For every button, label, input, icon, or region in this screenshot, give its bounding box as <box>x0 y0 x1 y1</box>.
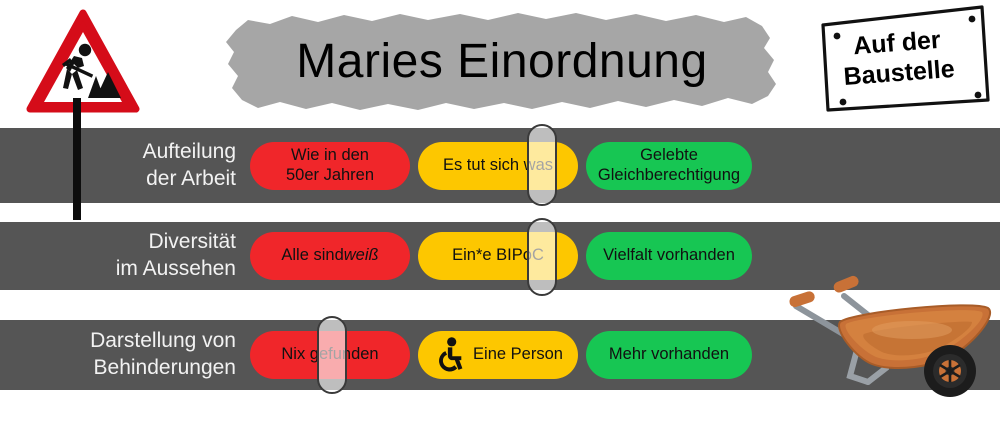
slide-canvas: Maries Einordnung Auf der Baustelle Auft… <box>0 0 1000 431</box>
option-green-row2[interactable]: Vielfalt vorhanden <box>586 232 752 280</box>
option-red-row2-emphasis: weiß <box>344 246 379 266</box>
sign-pole <box>73 98 81 220</box>
option-yellow-row3[interactable]: Eine Person <box>418 331 578 379</box>
option-red-row1[interactable]: Wie in den 50er Jahren <box>250 142 410 190</box>
wheelchair-accessibility-icon <box>433 336 467 374</box>
option-red-row1-line1: Wie in den <box>286 146 374 166</box>
title-banner: Maries Einordnung <box>222 8 782 116</box>
rating-marker-row2[interactable] <box>527 218 557 296</box>
row-label-diversitaet: Diversität im Aussehen <box>0 229 250 283</box>
option-red-row1-line2: 50er Jahren <box>286 166 374 186</box>
option-green-row1-line2: Gleichberechtigung <box>598 166 740 186</box>
road-works-triangle-icon <box>22 6 144 126</box>
rating-marker-row3[interactable] <box>317 316 347 394</box>
row-label-line-1: Aufteilung <box>0 139 236 166</box>
option-green-row1-line1: Gelebte <box>598 146 740 166</box>
row-label-line-1: Diversität <box>0 229 236 256</box>
option-green-row3-label: Mehr vorhanden <box>609 345 729 365</box>
wheelbarrow-icon <box>782 272 1000 400</box>
row-label-line-2: Behinderungen <box>0 355 236 382</box>
option-red-row2-label: Alle sind <box>281 246 343 266</box>
plate-text: Auf der Baustelle <box>802 0 994 121</box>
page-title: Maries Einordnung <box>222 8 782 116</box>
wheelbarrow-illustration <box>782 272 1000 400</box>
row-label-line-2: der Arbeit <box>0 166 236 193</box>
row-label-darstellung: Darstellung von Behinderungen <box>0 328 250 382</box>
row-aufteilung-der-arbeit: Aufteilung der Arbeit Wie in den 50er Ja… <box>0 128 1000 203</box>
option-green-row1[interactable]: Gelebte Gleichberechtigung <box>586 142 752 190</box>
row-label-aufteilung: Aufteilung der Arbeit <box>0 139 250 193</box>
option-green-row2-label: Vielfalt vorhanden <box>603 246 735 266</box>
row-label-line-1: Darstellung von <box>0 328 236 355</box>
option-yellow-row3-label: Eine Person <box>473 345 563 365</box>
row-label-line-2: im Aussehen <box>0 256 236 283</box>
rating-marker-row1[interactable] <box>527 124 557 206</box>
option-red-row2[interactable]: Alle sind weiß <box>250 232 410 280</box>
baustelle-plate: Auf der Baustelle <box>806 2 990 114</box>
option-green-row3[interactable]: Mehr vorhanden <box>586 331 752 379</box>
